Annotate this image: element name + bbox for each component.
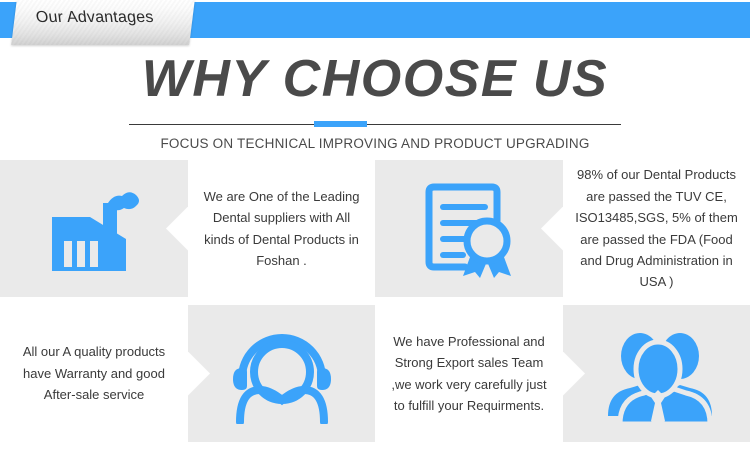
feature-text-holder-2: 98% of our Dental Products are passed th… — [563, 160, 750, 297]
certificate-icon-holder — [375, 160, 563, 297]
features-row-bottom: All our A quality products have Warranty… — [0, 305, 750, 442]
title-divider-line — [129, 124, 621, 125]
factory-icon — [44, 181, 144, 277]
team-group-icon — [600, 324, 714, 424]
feature-icon-panel-support — [188, 305, 375, 442]
page-subtitle: FOCUS ON TECHNICAL IMPROVING AND PRODUCT… — [0, 136, 750, 151]
feature-text-holder-1: We are One of the Leading Dental supplie… — [188, 160, 375, 297]
factory-icon-holder — [0, 160, 188, 297]
certificate-icon — [419, 179, 519, 279]
feature-text-panel-3: All our A quality products have Warranty… — [0, 305, 188, 442]
team-group-icon-holder — [563, 305, 750, 442]
feature-icon-panel-team — [563, 305, 750, 442]
features-grid: We are One of the Leading Dental supplie… — [0, 160, 750, 452]
title-block: WHY CHOOSE US FOCUS ON TECHNICAL IMPROVI… — [0, 45, 750, 157]
page-header: Our Advantages — [0, 0, 750, 45]
feature-description: We are One of the Leading Dental supplie… — [200, 186, 363, 272]
feature-description: 98% of our Dental Products are passed th… — [575, 164, 738, 293]
feature-icon-panel-certificate — [375, 160, 563, 297]
feature-text-holder-3: All our A quality products have Warranty… — [0, 305, 188, 442]
title-divider — [129, 121, 621, 127]
feature-description: All our A quality products have Warranty… — [12, 341, 176, 405]
feature-description: We have Professional and Strong Export s… — [387, 331, 551, 417]
features-row-top: We are One of the Leading Dental supplie… — [0, 160, 750, 297]
feature-text-holder-4: We have Professional and Strong Export s… — [375, 305, 563, 442]
headset-support-icon — [230, 324, 334, 424]
headset-support-icon-holder — [188, 305, 375, 442]
feature-text-panel-1: We are One of the Leading Dental supplie… — [188, 160, 375, 297]
feature-icon-panel-factory — [0, 160, 188, 297]
feature-text-panel-2: 98% of our Dental Products are passed th… — [563, 160, 750, 297]
section-tab-label: Our Advantages — [35, 9, 155, 27]
page-title: WHY CHOOSE US — [0, 53, 750, 105]
title-divider-accent — [314, 121, 367, 127]
feature-text-panel-4: We have Professional and Strong Export s… — [375, 305, 563, 442]
